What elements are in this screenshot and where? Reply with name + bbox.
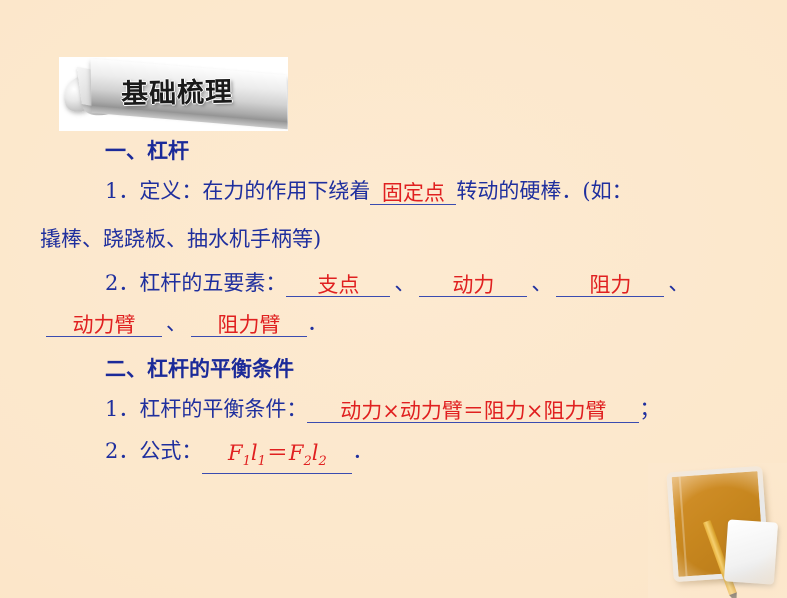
formula-f2: F (289, 441, 304, 465)
section-1-item-2-wrap: 动力臂、阻力臂． (0, 311, 787, 357)
banner-title-text: 基础梳理 (121, 70, 234, 111)
section-1-item-1: 1．定义：在力的作用下绕着固定点转动的硬棒．(如： (0, 179, 787, 227)
separator: 、 (527, 271, 556, 295)
section-1-item-1-wrap: 撬棒、跷跷板、抽水机手柄等) (0, 227, 787, 271)
item-number: 1． (105, 397, 139, 421)
formula-f2-sub: 2 (303, 454, 311, 469)
blank-answer-effort-force: 动力 (419, 274, 527, 297)
blank-answer-fixed-point: 固定点 (370, 182, 456, 205)
formula-expression: F1l1＝F2l2 (228, 441, 327, 465)
item-label: 杠杆的平衡条件： (139, 397, 307, 421)
item-number: 1． (105, 179, 139, 203)
slide-canvas: 基础梳理 一、杠杆 1．定义：在力的作用下绕着固定点转动的硬棒．(如： 撬棒、跷… (0, 0, 787, 598)
formula-l1: l (251, 441, 258, 465)
section-2-item-1: 1．杠杆的平衡条件：动力×动力臂＝阻力×阻力臂； (0, 397, 787, 439)
item-text-before: 在力的作用下绕着 (202, 179, 370, 203)
terminator: ． (352, 439, 373, 463)
blank-answer-effort-arm: 动力臂 (46, 314, 162, 337)
blank-answer-balance-condition: 动力×动力臂＝阻力×阻力臂 (307, 400, 639, 423)
item-label: 定义： (139, 179, 202, 203)
formula-equals: ＝ (266, 441, 289, 465)
section-1-item-2: 2．杠杆的五要素：支点、动力、阻力、 (0, 271, 787, 311)
item-number: 2． (105, 271, 139, 295)
separator: 、 (664, 271, 693, 295)
blank-answer-resistance-force: 阻力 (556, 274, 664, 297)
formula-l2-sub: 2 (318, 454, 326, 469)
paper-sheet-icon (724, 519, 778, 584)
slide-body: 一、杠杆 1．定义：在力的作用下绕着固定点转动的硬棒．(如： 撬棒、跷跷板、抽水… (0, 139, 787, 487)
item-label: 公式： (139, 439, 202, 463)
blank-answer-resistance-arm: 阻力臂 (191, 314, 307, 337)
formula-f1: F (228, 441, 243, 465)
section-1-heading: 一、杠杆 (0, 139, 787, 179)
separator: 、 (162, 311, 191, 335)
section-2-heading: 二、杠杆的平衡条件 (0, 357, 787, 397)
item-number: 2． (105, 439, 139, 463)
terminator: ． (307, 311, 328, 335)
notebook-paper-pencil-illustration (648, 463, 787, 598)
blank-answer-lever-formula: F1l1＝F2l2 (202, 442, 352, 474)
formula-l1-sub: 1 (258, 454, 266, 469)
item-label: 杠杆的五要素： (139, 271, 286, 295)
title-banner: 基础梳理 (59, 57, 288, 131)
formula-f1-sub: 1 (243, 454, 251, 469)
terminator: ； (639, 397, 660, 421)
separator: 、 (390, 271, 419, 295)
blank-answer-fulcrum: 支点 (286, 274, 390, 297)
item-text-after: 转动的硬棒．(如： (456, 179, 632, 203)
